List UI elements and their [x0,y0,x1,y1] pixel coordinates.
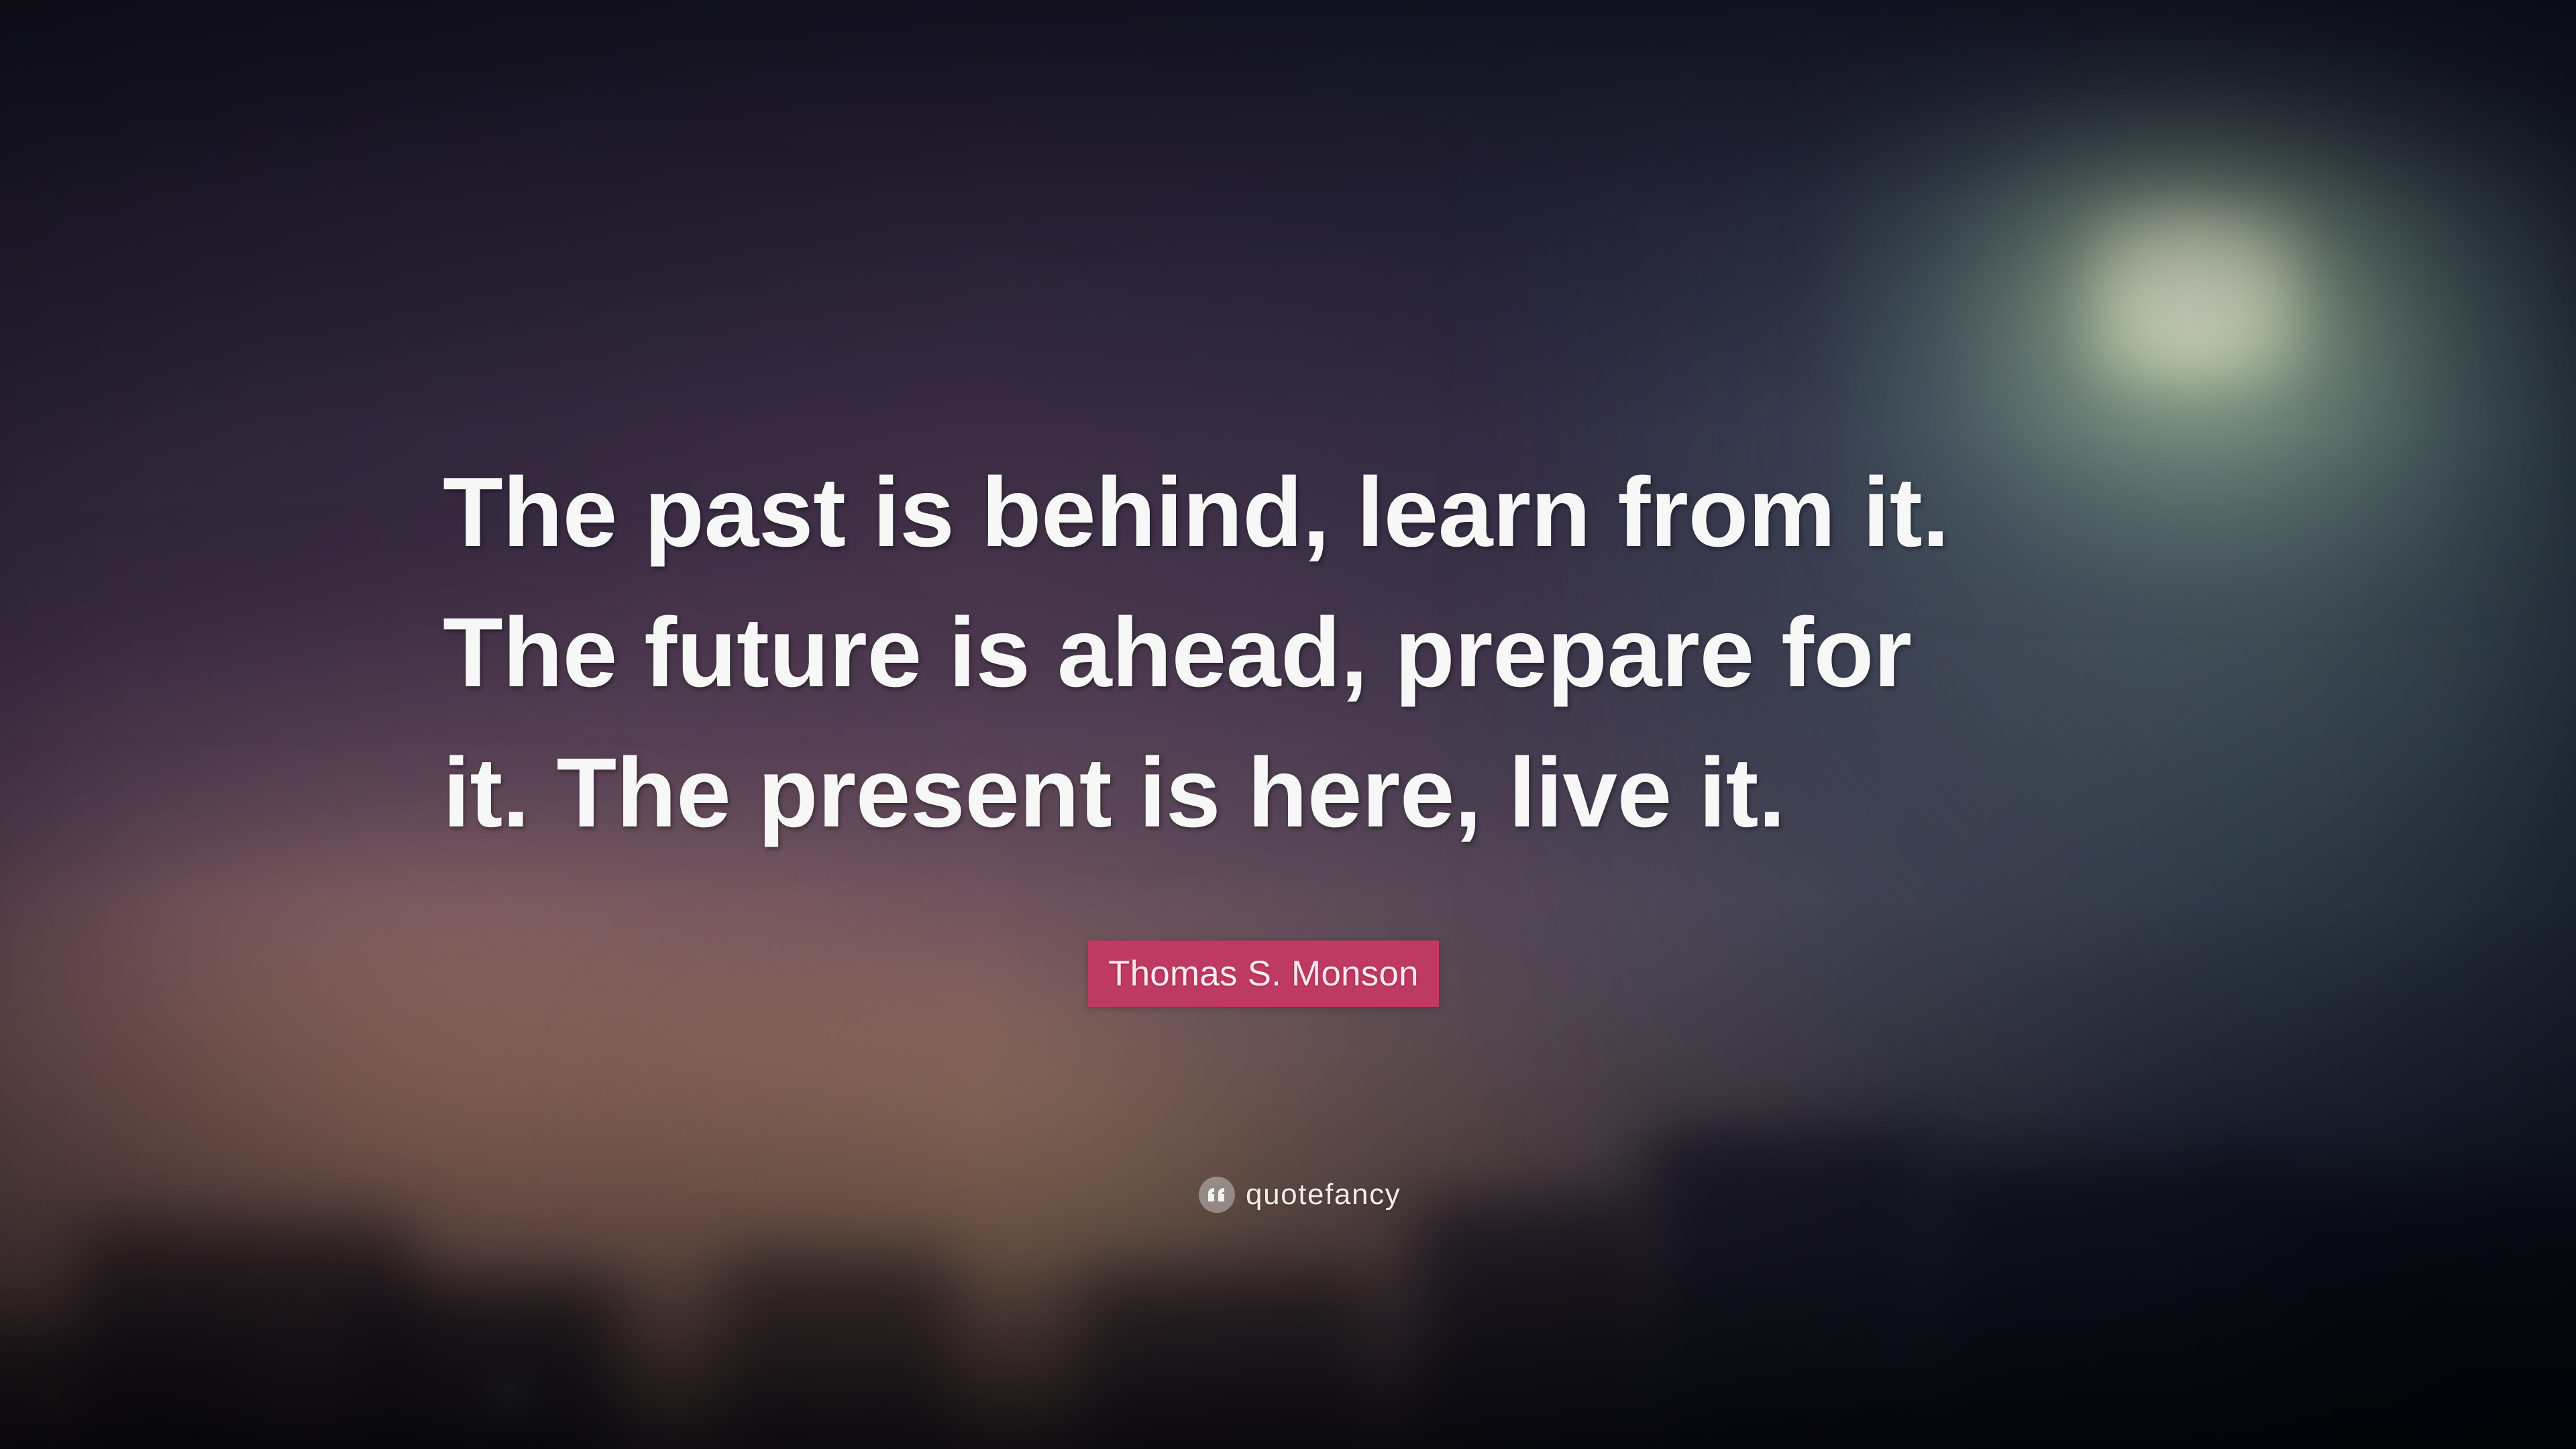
quotefancy-logo[interactable]: quotefancy [1199,1177,1401,1213]
quote-text: The past is behind, learn from it. The f… [443,443,2133,863]
author-name: Thomas S. Monson [1108,956,1419,991]
author-badge[interactable]: Thomas S. Monson [1088,941,1439,1007]
quote-mark-icon [1199,1177,1235,1213]
quote-line: it. The present is here, live it. [443,723,2133,863]
quote-line: The future is ahead, prepare for [443,583,2133,723]
quote-line: The past is behind, learn from it. [443,443,2133,583]
quote-card: The past is behind, learn from it. The f… [0,0,2576,1449]
brand-name: quotefancy [1246,1180,1401,1210]
